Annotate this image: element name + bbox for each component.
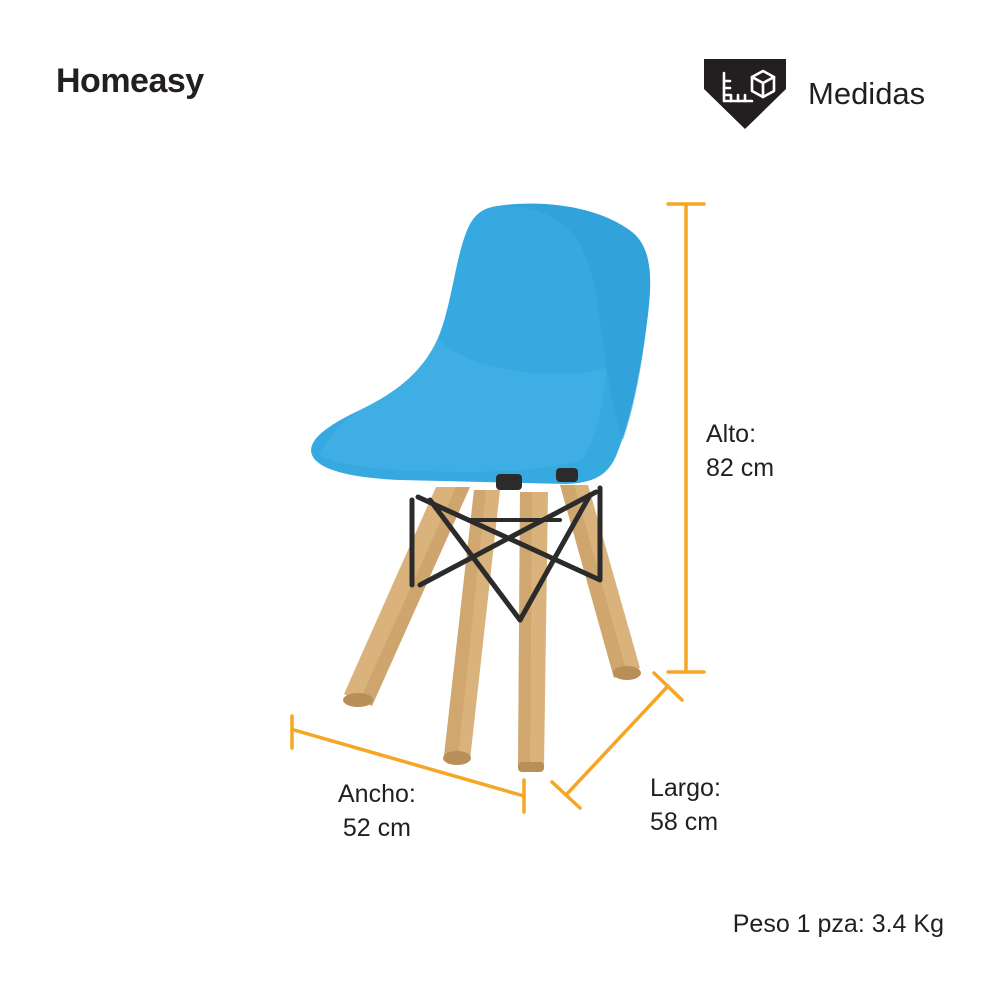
- product-measurements-card: Homeasy Medidas: [0, 0, 1000, 1000]
- depth-label-value: 58 cm: [650, 806, 721, 840]
- depth-label: Largo: 58 cm: [650, 772, 721, 840]
- width-label-value: 52 cm: [338, 812, 416, 846]
- width-label-title: Ancho:: [338, 778, 416, 812]
- height-label-title: Alto:: [706, 418, 774, 452]
- height-label: Alto: 82 cm: [706, 418, 774, 486]
- weight-text: Peso 1 pza: 3.4 Kg: [733, 910, 944, 939]
- dimension-lines: [0, 0, 1000, 1000]
- depth-label-title: Largo:: [650, 772, 721, 806]
- height-label-value: 82 cm: [706, 452, 774, 486]
- width-label: Ancho: 52 cm: [338, 778, 416, 846]
